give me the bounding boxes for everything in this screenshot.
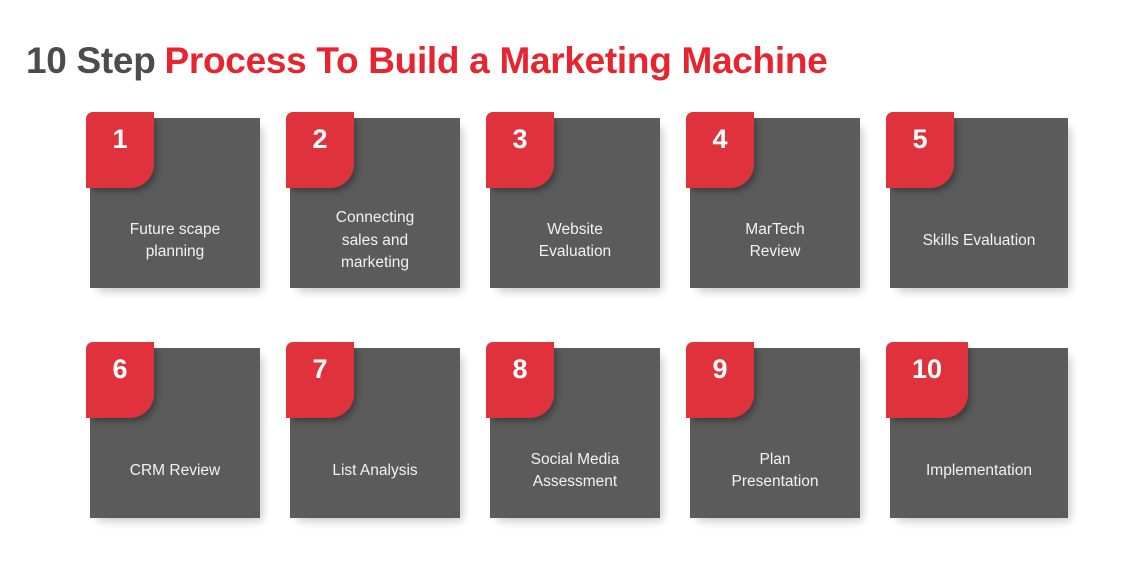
step-card-7[interactable]: 7 List Analysis (290, 348, 460, 518)
step-label-container: Plan Presentation (690, 424, 860, 518)
step-badge-9: 9 (686, 342, 754, 418)
step-number-label: 6 (112, 356, 127, 383)
step-card-1[interactable]: 1 Future scape planning (90, 118, 260, 288)
step-label-container: Future scape planning (90, 194, 260, 288)
step-card-6[interactable]: 6 CRM Review (90, 348, 260, 518)
step-label: Implementation (926, 460, 1032, 482)
step-label: List Analysis (332, 460, 417, 482)
steps-row-bottom: 6 CRM Review 7 List Analysis 8 Social Me… (90, 348, 1070, 528)
step-label-container: Social Media Assessment (490, 424, 660, 518)
step-label-container: Website Evaluation (490, 194, 660, 288)
step-badge-8: 8 (486, 342, 554, 418)
step-label: Skills Evaluation (923, 230, 1036, 252)
step-label: Website Evaluation (539, 219, 611, 264)
page-title-prefix: 10 Step (26, 42, 156, 79)
steps-grid: 1 Future scape planning 2 Connecting sal… (90, 118, 1070, 528)
step-badge-3: 3 (486, 112, 554, 188)
page-title-accent: Process To Build a Marketing Machine (165, 42, 828, 79)
step-label: Future scape planning (130, 219, 220, 264)
step-badge-7: 7 (286, 342, 354, 418)
step-number-label: 2 (312, 126, 327, 153)
step-label: Plan Presentation (731, 449, 818, 494)
step-number-label: 8 (512, 356, 527, 383)
step-card-3[interactable]: 3 Website Evaluation (490, 118, 660, 288)
step-badge-2: 2 (286, 112, 354, 188)
step-badge-5: 5 (886, 112, 954, 188)
step-badge-1: 1 (86, 112, 154, 188)
step-card-9[interactable]: 9 Plan Presentation (690, 348, 860, 518)
step-card-8[interactable]: 8 Social Media Assessment (490, 348, 660, 518)
step-number-label: 7 (312, 356, 327, 383)
step-number-label: 1 (112, 126, 127, 153)
step-label: Connecting sales and marketing (336, 207, 414, 274)
step-label: MarTech Review (745, 219, 804, 264)
step-label-container: Implementation (890, 424, 1068, 518)
step-label-container: List Analysis (290, 424, 460, 518)
step-number-label: 4 (712, 126, 727, 153)
step-number-label: 10 (912, 356, 942, 383)
step-number-label: 5 (912, 126, 927, 153)
step-label-container: MarTech Review (690, 194, 860, 288)
step-card-2[interactable]: 2 Connecting sales and marketing (290, 118, 460, 288)
step-card-10[interactable]: 10 Implementation (890, 348, 1068, 518)
step-label-container: Connecting sales and marketing (290, 194, 460, 288)
step-badge-4: 4 (686, 112, 754, 188)
step-badge-10: 10 (886, 342, 968, 418)
step-label: CRM Review (130, 460, 220, 482)
steps-row-top: 1 Future scape planning 2 Connecting sal… (90, 118, 1070, 348)
step-badge-6: 6 (86, 342, 154, 418)
page-title: 10 Step Process To Build a Marketing Mac… (26, 34, 1116, 86)
step-number-label: 9 (712, 356, 727, 383)
step-card-4[interactable]: 4 MarTech Review (690, 118, 860, 288)
step-label-container: Skills Evaluation (890, 194, 1068, 288)
step-card-5[interactable]: 5 Skills Evaluation (890, 118, 1068, 288)
step-label: Social Media Assessment (531, 449, 620, 494)
step-number-label: 3 (512, 126, 527, 153)
step-label-container: CRM Review (90, 424, 260, 518)
